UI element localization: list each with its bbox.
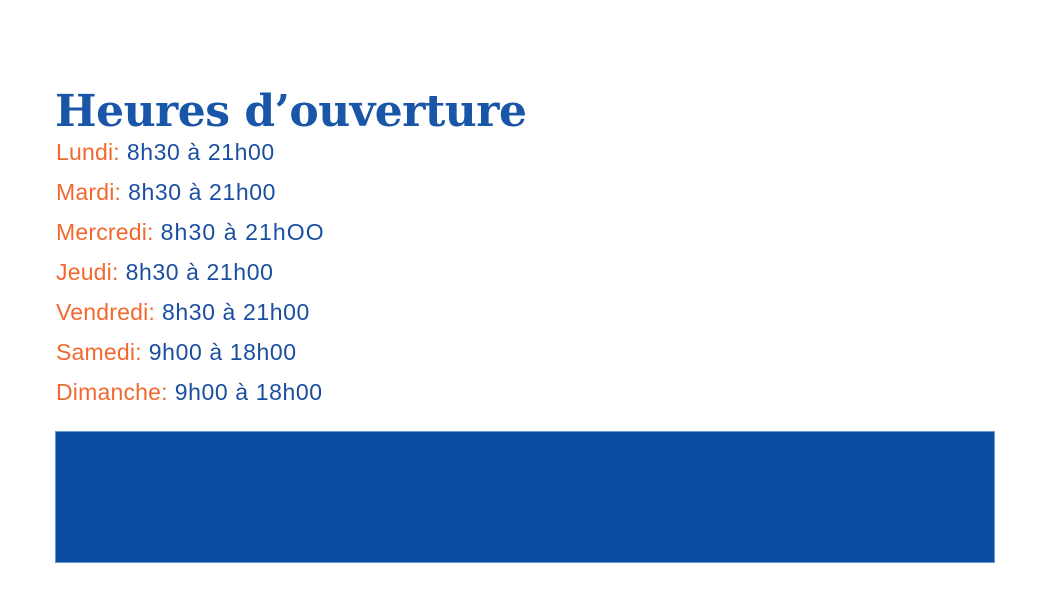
slide-canvas: Heures d’ouverture Lundi:8h30 à 21h00 Ma… (0, 0, 1050, 600)
time-value-jeudi: 8h30 à 21h00 (126, 259, 274, 285)
day-label-mardi: Mardi: (56, 179, 121, 205)
hours-row-vendredi: Vendredi:8h30 à 21h00 (56, 292, 656, 332)
time-value-lundi: 8h30 à 21h00 (127, 139, 275, 165)
time-value-mercredi: 8h30 à 21hOO (161, 219, 325, 245)
day-label-jeudi: Jeudi: (56, 259, 119, 285)
day-label-dimanche: Dimanche: (56, 379, 168, 405)
hours-row-mercredi: Mercredi:8h30 à 21hOO (56, 212, 656, 252)
hours-row-lundi: Lundi:8h30 à 21h00 (56, 132, 656, 172)
blue-content-placeholder (55, 431, 995, 563)
hours-row-mardi: Mardi:8h30 à 21h00 (56, 172, 656, 212)
time-value-dimanche: 9h00 à 18h00 (175, 379, 323, 405)
hours-row-samedi: Samedi:9h00 à 18h00 (56, 332, 656, 372)
day-label-lundi: Lundi: (56, 139, 120, 165)
hours-row-dimanche: Dimanche:9h00 à 18h00 (56, 372, 656, 412)
time-value-mardi: 8h30 à 21h00 (128, 179, 276, 205)
day-label-mercredi: Mercredi: (56, 219, 154, 245)
time-value-samedi: 9h00 à 18h00 (149, 339, 297, 365)
page-title: Heures d’ouverture (55, 89, 526, 135)
day-label-samedi: Samedi: (56, 339, 142, 365)
day-label-vendredi: Vendredi: (56, 299, 155, 325)
opening-hours-list: Lundi:8h30 à 21h00 Mardi:8h30 à 21h00 Me… (56, 132, 656, 412)
time-value-vendredi: 8h30 à 21h00 (162, 299, 310, 325)
hours-row-jeudi: Jeudi:8h30 à 21h00 (56, 252, 656, 292)
